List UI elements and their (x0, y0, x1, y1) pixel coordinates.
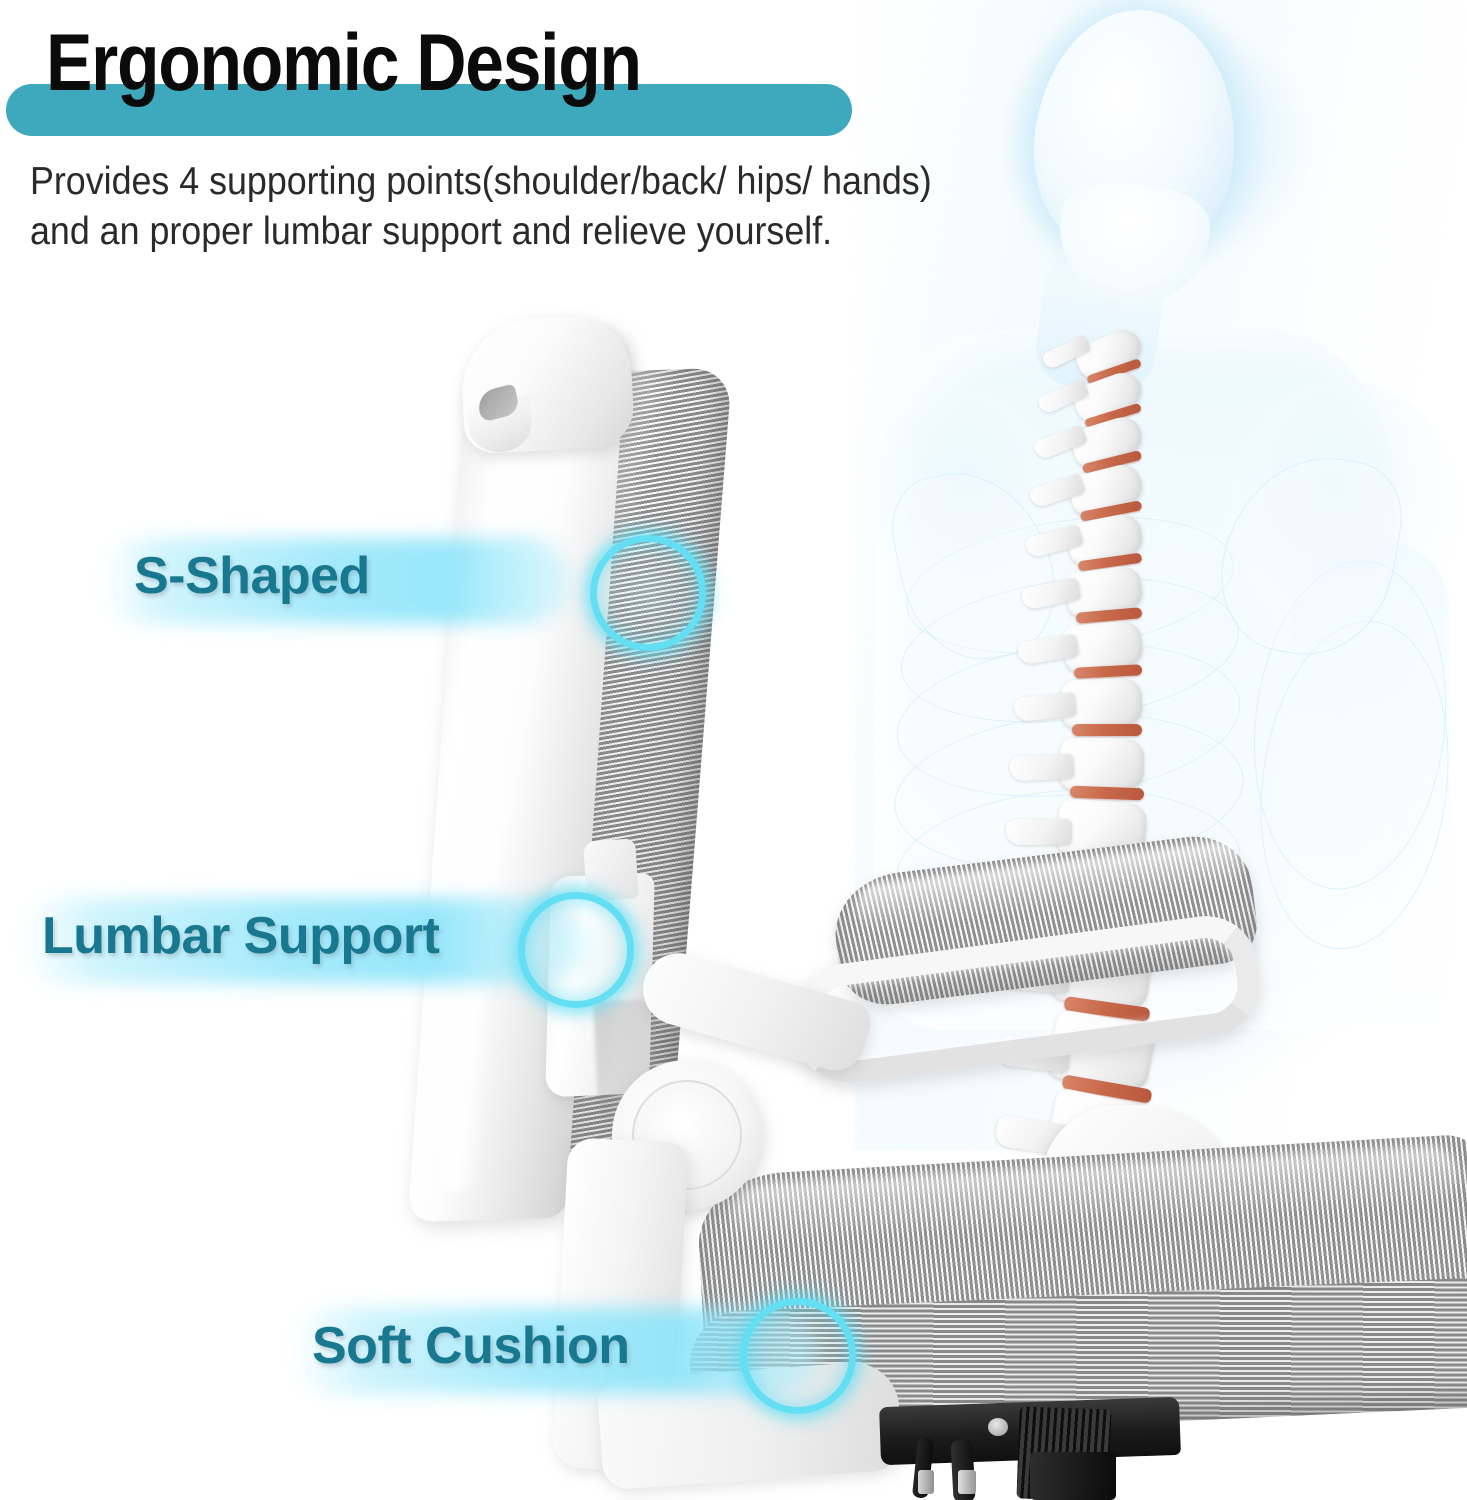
glow-ring-icon (740, 1298, 856, 1414)
glow-ring-icon (590, 535, 706, 651)
callout-soft-cushion: Soft Cushion (290, 1290, 930, 1410)
header: Ergonomic Design Provides 4 supporting p… (0, 0, 1300, 280)
lever-chrome-tip (918, 1470, 934, 1494)
gas-cylinder-lower (1030, 1452, 1116, 1500)
infographic-page: Ergonomic Design Provides 4 supporting p… (0, 0, 1467, 1500)
mechanism-bolt (988, 1418, 1008, 1436)
lever-chrome-tip (958, 1470, 976, 1494)
page-title: Ergonomic Design (6, 18, 876, 143)
callout-lumbar-support: Lumbar Support (10, 880, 660, 1000)
callout-s-shaped: S-Shaped (100, 520, 660, 640)
glow-ring-icon (518, 892, 634, 1008)
title-text: Ergonomic Design (46, 22, 641, 105)
callout-label: Lumbar Support (42, 906, 439, 966)
callout-label: Soft Cushion (312, 1316, 630, 1376)
callout-label: S-Shaped (134, 546, 370, 606)
subtitle-text: Provides 4 supporting points(shoulder/ba… (30, 157, 1183, 257)
